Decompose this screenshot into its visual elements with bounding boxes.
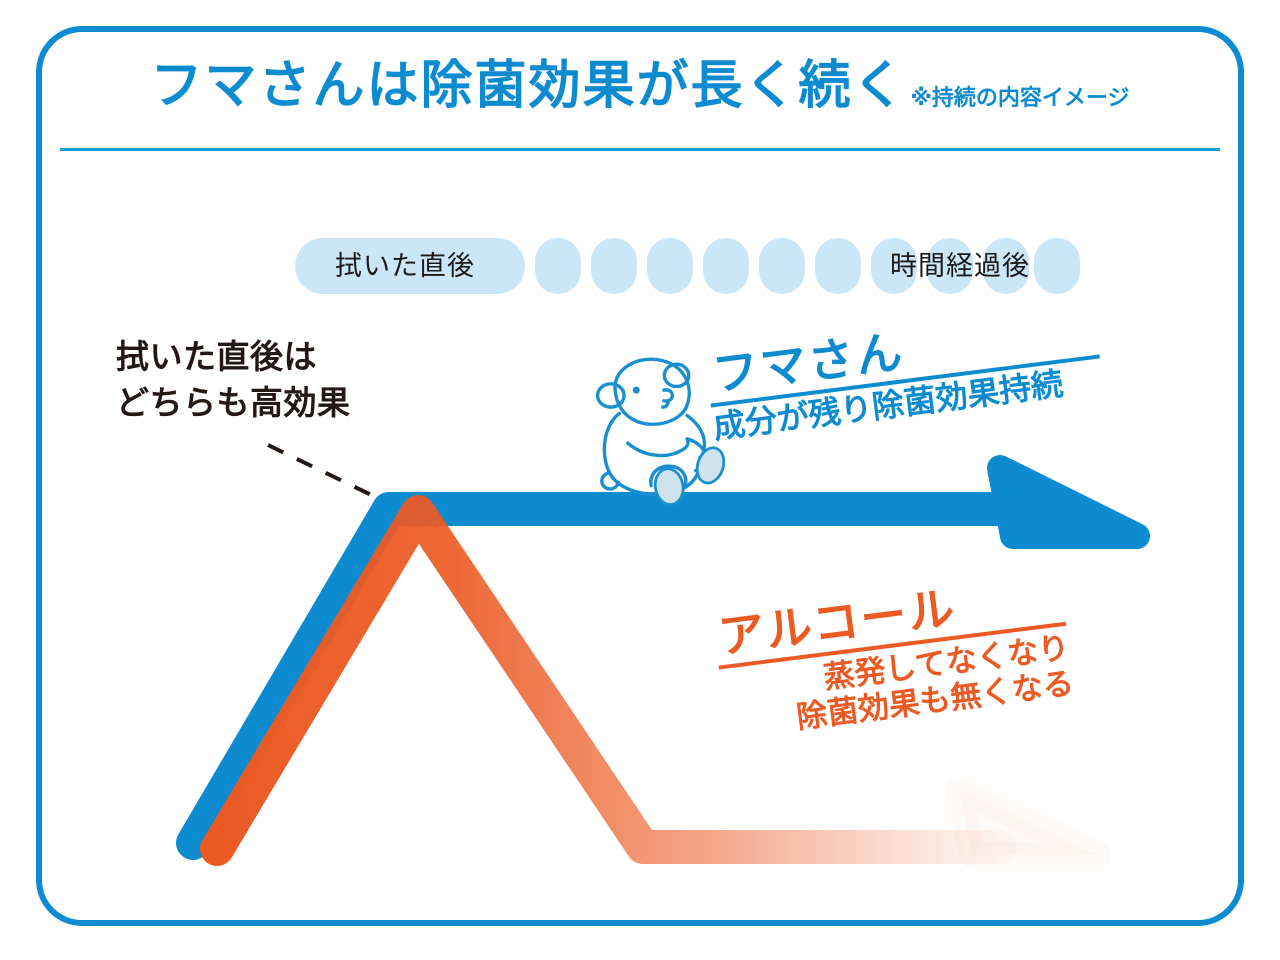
effect-duration-chart [0,0,1280,960]
leader-line-dashed [268,445,388,503]
infographic-canvas: フマさんは除菌効果が長く続く ※持続の内容イメージ 拭いた直後 時間経過後 拭い… [0,0,1280,960]
